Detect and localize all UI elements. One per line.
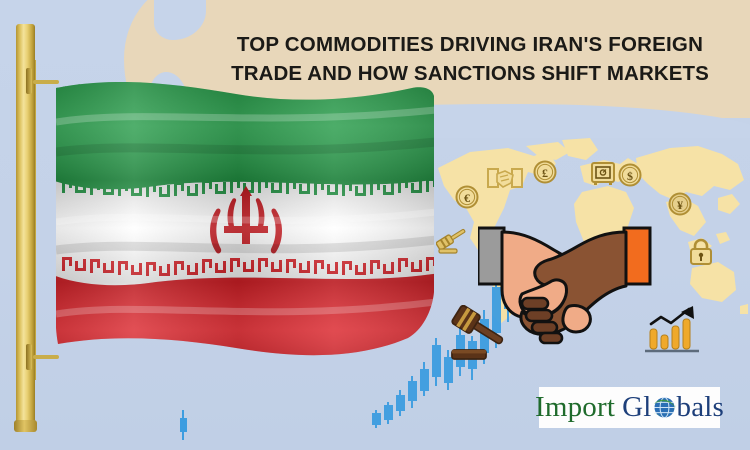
import-globals-logo[interactable]: Import Gl bals <box>539 387 720 428</box>
title-line-2: TRADE AND HOW SANCTIONS SHIFT MARKETS <box>210 59 730 88</box>
money-cash-icon <box>487 166 523 197</box>
pound-coin-icon: £ <box>533 160 557 189</box>
flagpole-band-bottom <box>26 344 32 370</box>
handshake-illustration <box>478 220 678 360</box>
page-title: TOP COMMODITIES DRIVING IRAN'S FOREIGN T… <box>210 30 730 88</box>
infographic-canvas: € £ $ ¥ <box>0 0 750 450</box>
logo-word-gl: Gl <box>622 393 651 422</box>
flagpole-cap <box>9 16 42 31</box>
svg-text:£: £ <box>542 166 548 180</box>
logo-word-import: Import <box>535 393 615 422</box>
flag-clip-bottom <box>33 355 59 359</box>
dollar-coin-icon: $ <box>618 163 642 192</box>
flagpole-band-top <box>26 68 32 94</box>
title-line-1: TOP COMMODITIES DRIVING IRAN'S FOREIGN <box>210 30 730 59</box>
safe-vault-icon <box>590 160 616 191</box>
padlock-icon <box>688 238 714 271</box>
logo-word-bals: bals <box>677 393 725 422</box>
globe-icon <box>652 395 677 420</box>
euro-coin-icon: € <box>455 185 479 214</box>
yen-coin-icon: ¥ <box>668 192 692 221</box>
svg-text:$: $ <box>627 169 633 183</box>
flag-clip-top <box>33 80 59 84</box>
svg-text:¥: ¥ <box>677 198 683 212</box>
candlestick-single <box>176 408 190 442</box>
flagpole-foot <box>14 420 37 432</box>
logo-text: Import Gl bals <box>535 393 724 422</box>
svg-text:€: € <box>464 191 470 205</box>
iran-flag <box>56 82 436 360</box>
gavel-small-icon <box>436 227 472 262</box>
